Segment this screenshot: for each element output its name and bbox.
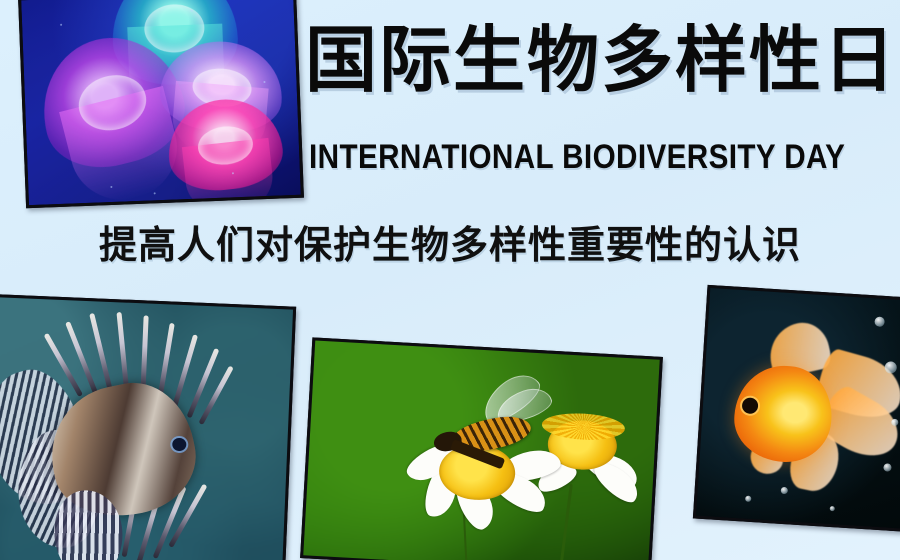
goldfish-photo-inner — [696, 288, 900, 530]
lionfish-photo — [0, 294, 296, 560]
lionfish-photo-inner — [0, 297, 293, 560]
page-tagline: 提高人们对保护生物多样性重要性的认识 — [0, 226, 900, 264]
page-subtitle: INTERNATIONAL BIODIVERSITY DAY — [309, 140, 779, 174]
page-title: 国际生物多样性日 — [305, 24, 845, 96]
bee-photo-inner — [303, 341, 659, 560]
poster-canvas: 国际生物多样性日 INTERNATIONAL BIODIVERSITY DAY … — [0, 0, 900, 560]
bee-on-flower-photo — [300, 337, 663, 560]
text-block: 国际生物多样性日 INTERNATIONAL BIODIVERSITY DAY … — [0, 0, 900, 300]
goldfish-photo — [693, 285, 900, 533]
bubble — [780, 487, 787, 494]
bubble — [891, 418, 898, 425]
